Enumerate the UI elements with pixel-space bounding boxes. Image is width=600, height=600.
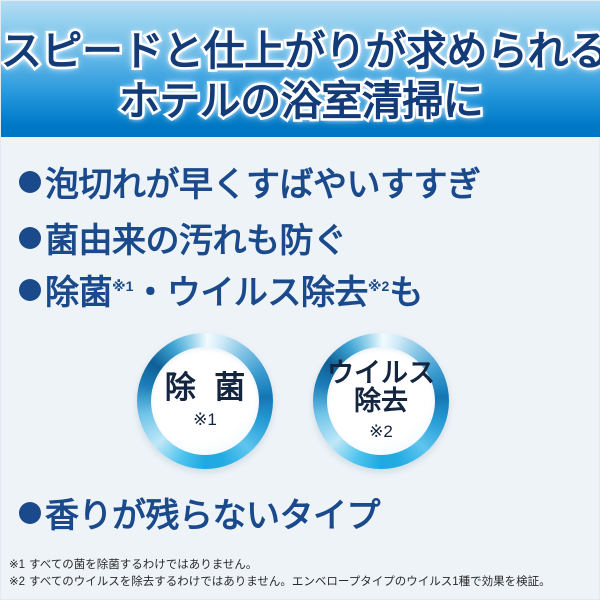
feature-bullet-label-suffix: も (389, 265, 423, 314)
bullet-dot-icon (19, 227, 41, 249)
feature-bullet-label: 泡切れが早くすばやいすすぎ (45, 157, 481, 206)
footnotes: ※1すべての菌を除菌するわけではありません。 ※2すべてのウイルスを除去するわけ… (9, 557, 599, 592)
promo-image-root: スピードと仕上がりが求められる ホテルの浴室清掃に 泡切れが早くすばやいすすぎ … (0, 0, 600, 600)
feature-bullet-label-sanitize: 除菌 (45, 265, 112, 314)
footnote-text-1: すべての菌を除菌するわけではありません。 (29, 559, 257, 571)
banner-headline-line-2: ホテルの浴室清掃に (1, 67, 600, 127)
footnote-ref-2: ※2 (368, 278, 389, 295)
footnote-marker-2: ※2 (9, 576, 25, 588)
badge-sanitize-footnote-ref: ※1 (193, 410, 217, 430)
footnote-line-1: ※1すべての菌を除菌するわけではありません。 (9, 557, 599, 574)
footnote-text-2: すべてのウイルスを除去するわけではありません。エンベロープタイプのウイルス1種で… (29, 576, 551, 588)
bullet-dot-icon (19, 279, 41, 301)
badge-virus-removal: ウイルス 除去 ※2 (313, 333, 449, 469)
header-banner: スピードと仕上がりが求められる ホテルの浴室清掃に (1, 1, 600, 137)
bullet-dot-icon (19, 502, 41, 524)
feature-bullet-foam-rinse: 泡切れが早くすばやいすすぎ (19, 157, 481, 206)
badge-sanitize-inner: 除 菌 ※1 (151, 347, 259, 455)
feature-bullet-label: 菌由来の汚れも防ぐ (45, 213, 347, 262)
feature-bullet-label-virus: ・ウイルス除去 (133, 265, 368, 314)
footnote-line-2: ※2すべてのウイルスを除去するわけではありません。エンベロープタイプのウイルス1… (9, 574, 599, 591)
feature-bullet-prevent-grime: 菌由来の汚れも防ぐ (19, 213, 347, 262)
badge-virus-removal-inner: ウイルス 除去 ※2 (327, 347, 435, 455)
feature-bullet-sanitize-virus: 除菌 ※1 ・ウイルス除去 ※2 も (19, 265, 423, 314)
badge-virus-removal-label-line1: ウイルス (327, 358, 435, 388)
badge-virus-removal-label-line2: 除去 (354, 386, 408, 416)
badge-virus-removal-footnote-ref: ※2 (369, 422, 393, 442)
badge-sanitize: 除 菌 ※1 (137, 333, 273, 469)
bullet-dot-icon (19, 171, 41, 193)
badge-group: 除 菌 ※1 ウイルス 除去 ※2 (1, 331, 600, 477)
feature-bullet-label: 香りが残らないタイプ (45, 488, 380, 537)
footnote-marker-1: ※1 (9, 559, 25, 571)
feature-bullet-no-fragrance: 香りが残らないタイプ (19, 488, 380, 537)
badge-virus-removal-label: ウイルス 除去 (327, 360, 435, 415)
badge-sanitize-label: 除 菌 (160, 372, 251, 404)
footnote-ref-1: ※1 (112, 278, 133, 295)
